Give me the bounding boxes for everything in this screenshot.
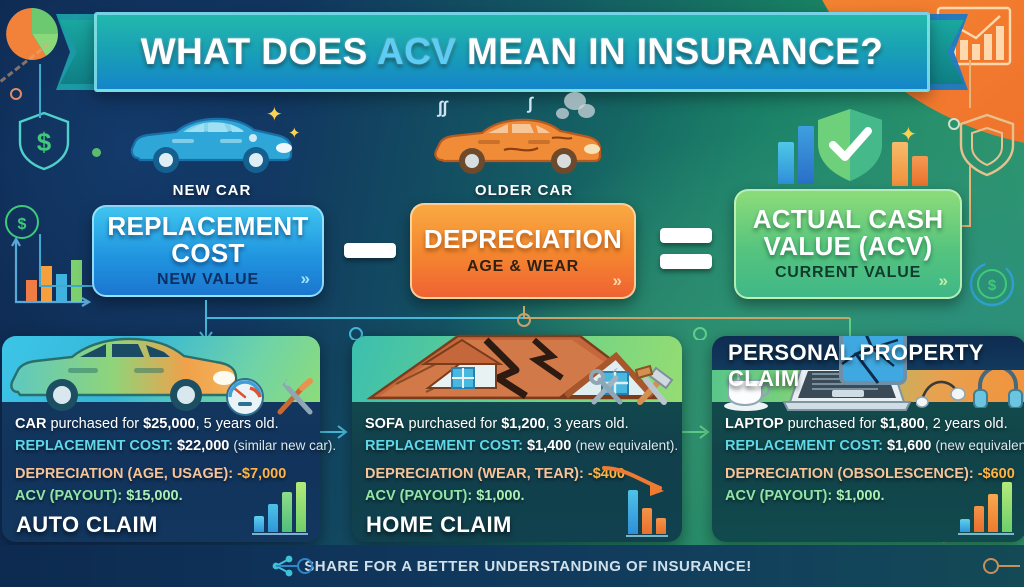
actual-cash-value-box[interactable]: ACTUAL CASH VALUE (ACV) CURRENT VALUE » [734, 189, 962, 299]
equals-sign [660, 228, 712, 269]
footer-bar: SHARE FOR A BETTER UNDERSTANDING OF INSU… [0, 545, 1024, 587]
older-car-label: OLDER CAR [436, 182, 612, 199]
home-card-bar-chart [628, 490, 666, 534]
sparkle-icon-2: ✦ [288, 124, 301, 142]
prop-card-body: LAPTOP purchased for $1,800, 2 years old… [712, 402, 1024, 542]
bar [296, 482, 306, 532]
sparkle-icon-1: ✦ [266, 102, 283, 127]
acv-subtitle: CURRENT VALUE [775, 264, 921, 282]
heat-squiggle-icon-2: ∫ [528, 94, 533, 114]
bar [268, 504, 278, 532]
replacement-cost-box[interactable]: REPLACEMENT COST NEW VALUE » [92, 205, 324, 297]
home-line-2: REPLACEMENT COST: $1,400 (new equivalent… [365, 435, 670, 457]
depreciation-subtitle: AGE & WEAR [467, 258, 579, 276]
replacement-cost-subtitle: NEW VALUE [157, 271, 259, 289]
bar [960, 519, 970, 532]
home-line-1: SOFA purchased for $1,200, 3 years old. [365, 413, 670, 435]
bar [254, 516, 264, 532]
auto-line1-label: CAR [15, 416, 46, 432]
auto-line-1: CAR purchased for $25,000, 5 years old. [15, 413, 308, 435]
auto-line4-amount: $15,000. [126, 488, 182, 504]
home-line1-amount: $1,200 [501, 416, 545, 432]
chevron-right-icon: » [301, 269, 310, 289]
bar [282, 492, 292, 532]
bar [1002, 482, 1012, 532]
auto-line3-amount: -$7,000 [237, 466, 286, 482]
share-icon[interactable] [272, 555, 294, 577]
home-line2-amount: $1,400 [527, 438, 571, 454]
prop-line1-rest: purchased for [784, 416, 881, 432]
bar [892, 142, 908, 186]
auto-line2-note: (similar new car). [233, 438, 336, 453]
bar [988, 494, 998, 532]
prop-line4-label: ACV (PAYOUT): [725, 488, 832, 504]
auto-card-bar-chart [254, 482, 306, 532]
prop-line3-label: DEPRECIATION (OBSOLESCENCE): [725, 466, 974, 482]
home-line3-amount: -$400 [588, 466, 625, 482]
personal-property-claim-card[interactable]: PERSONAL PROPERTY CLAIM LAPTOP purchased… [712, 336, 1024, 542]
older-car-illustration: ∫∫ ∫ [432, 108, 608, 180]
auto-line1-tail: , 5 years old. [196, 416, 279, 432]
acv-title: ACTUAL CASH VALUE (ACV) [736, 206, 960, 259]
depreciation-box[interactable]: DEPRECIATION AGE & WEAR » [410, 203, 636, 299]
home-line2-label: REPLACEMENT COST: [365, 438, 523, 454]
prop-line1-label: LAPTOP [725, 416, 784, 432]
home-line-4: ACV (PAYOUT): $1,000. [365, 485, 670, 507]
prop-line-1: LAPTOP purchased for $1,800, 2 years old… [725, 413, 1014, 435]
title-highlight: ACV [377, 31, 456, 72]
home-claim-title: HOME CLAIM [366, 512, 512, 538]
prop-line2-label: REPLACEMENT COST: [725, 438, 883, 454]
auto-line2-amount: $22,000 [177, 438, 229, 454]
chevron-right-icon: » [613, 271, 622, 291]
bar [642, 508, 652, 534]
auto-line-2: REPLACEMENT COST: $22,000 (similar new c… [15, 435, 308, 457]
minus-sign [344, 243, 396, 258]
bar [974, 506, 984, 532]
footer-text: SHARE FOR A BETTER UNDERSTANDING OF INSU… [304, 558, 751, 575]
prop-line3-amount: -$600 [978, 466, 1015, 482]
title-pre: WHAT DOES [141, 31, 377, 72]
prop-line2-note: (new equivalent). [935, 438, 1024, 453]
prop-line2-amount: $1,600 [887, 438, 931, 454]
infographic-canvas: $ $ $ [0, 0, 1024, 587]
bar [656, 518, 666, 534]
smoke-puff-2 [578, 104, 595, 118]
auto-line2-label: REPLACEMENT COST: [15, 438, 173, 454]
home-line4-label: ACV (PAYOUT): [365, 488, 472, 504]
title-post: MEAN IN INSURANCE? [456, 31, 883, 72]
auto-line1-amount: $25,000 [143, 416, 195, 432]
heat-squiggle-icon-1: ∫∫ [438, 98, 447, 118]
prop-card-bar-chart [960, 482, 1012, 532]
auto-card-header [2, 336, 320, 402]
prop-line1-amount: $1,800 [880, 416, 924, 432]
prop-line4-amount: $1,000. [836, 488, 884, 504]
bar-chart-decor-top-right [892, 140, 928, 186]
auto-claim-card[interactable]: AUTO CLAIM CAR purchased for $25,000, 5 … [2, 336, 320, 542]
prop-line1-tail: , 2 years old. [925, 416, 1008, 432]
home-line-3: DEPRECIATION (WEAR, TEAR): -$400 [365, 463, 670, 485]
bar [778, 142, 794, 184]
personal-property-claim-title: PERSONAL PROPERTY CLAIM [728, 340, 1024, 392]
home-card-header [352, 336, 682, 402]
home-line4-amount: $1,000. [476, 488, 524, 504]
title-ribbon: WHAT DOES ACV MEAN IN INSURANCE? [60, 12, 964, 92]
home-line3-label: DEPRECIATION (WEAR, TEAR): [365, 466, 584, 482]
home-line1-label: SOFA [365, 416, 404, 432]
auto-line1-rest: purchased for [46, 416, 143, 432]
new-car-label: NEW CAR [128, 182, 296, 199]
smoke-puff-3 [556, 108, 569, 119]
home-line1-rest: purchased for [404, 416, 501, 432]
bar [628, 490, 638, 534]
bar [912, 156, 928, 186]
home-line1-tail: , 3 years old. [546, 416, 629, 432]
depreciation-title: DEPRECIATION [424, 226, 622, 253]
chevron-right-icon: » [939, 271, 948, 291]
home-claim-card[interactable]: HOME CLAIM SOFA purchased for $1,200, 3 … [352, 336, 682, 542]
bar-chart-decor-top [778, 122, 814, 184]
auto-claim-title: AUTO CLAIM [16, 512, 158, 538]
auto-line4-label: ACV (PAYOUT): [15, 488, 122, 504]
page-title: WHAT DOES ACV MEAN IN INSURANCE? [141, 31, 884, 73]
home-line2-note: (new equivalent). [575, 438, 678, 453]
title-banner: WHAT DOES ACV MEAN IN INSURANCE? [94, 12, 930, 92]
new-car-illustration: ✦ ✦ [128, 108, 296, 178]
replacement-cost-title: REPLACEMENT COST [94, 213, 322, 266]
bar [798, 126, 814, 184]
prop-line-2: REPLACEMENT COST: $1,600 (new equivalent… [725, 435, 1014, 457]
connector-dot-right-footer [980, 557, 1020, 575]
auto-line3-label: DEPRECIATION (AGE, USAGE): [15, 466, 233, 482]
